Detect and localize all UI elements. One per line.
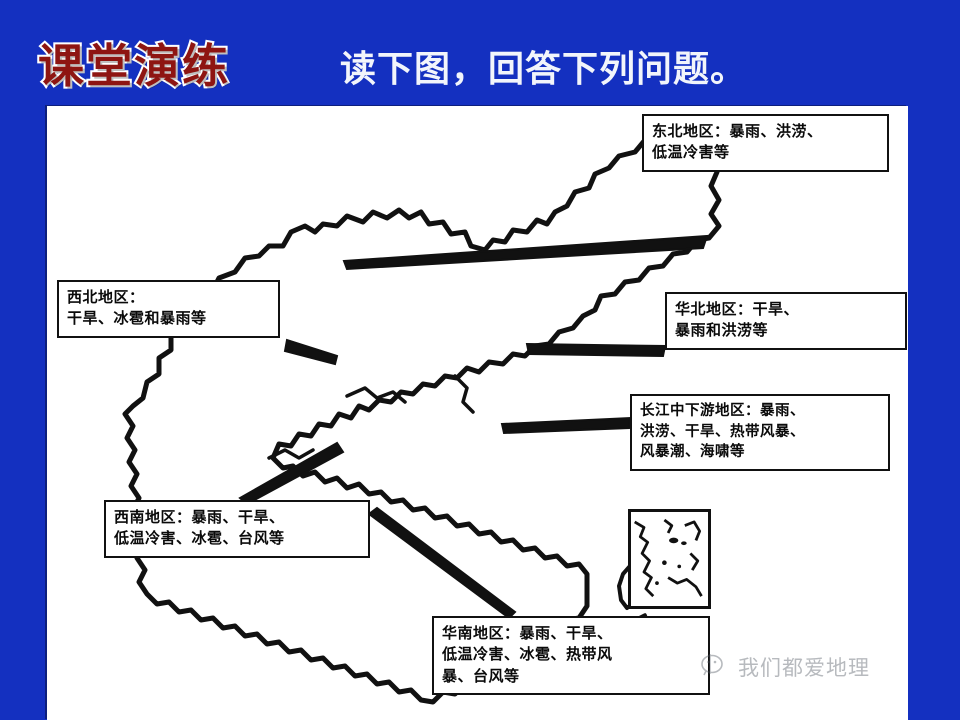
south-china-sea-inset-map xyxy=(631,512,708,606)
leader-northchina xyxy=(527,344,665,356)
callout-northwest[interactable]: 西北地区： 干旱、冰雹和暴雨等 xyxy=(57,280,280,338)
slide-canvas: 课堂演练 读下图，回答下列问题。 xyxy=(0,0,960,720)
watermark-text: 我们都爱地理 xyxy=(738,652,870,682)
callout-northeast[interactable]: 东北地区：暴雨、洪涝、 低温冷害等 xyxy=(642,114,889,172)
instruction-text: 读下图，回答下列问题。 xyxy=(340,40,747,92)
leader-yangtze xyxy=(502,418,630,433)
callout-southwest[interactable]: 西南地区：暴雨、干旱、 低温冷害、冰雹、台风等 xyxy=(104,500,370,558)
south-china-sea-inset xyxy=(628,509,711,609)
callout-northchina[interactable]: 华北地区：干旱、 暴雨和洪涝等 xyxy=(665,292,907,350)
page-title: 课堂演练 xyxy=(38,30,230,96)
callout-southchina[interactable]: 华南地区：暴雨、干旱、 低温冷害、冰雹、热带风 暴、台风等 xyxy=(432,616,710,695)
leader-southchina xyxy=(369,508,515,618)
wechat-icon xyxy=(700,652,730,682)
watermark: 我们都爱地理 xyxy=(700,652,870,682)
internal-boundaries xyxy=(269,376,473,458)
callout-yangtze[interactable]: 长江中下游地区：暴雨、 洪涝、干旱、热带风暴、 风暴潮、海啸等 xyxy=(630,394,890,471)
leader-northwest xyxy=(285,340,337,364)
slide-header: 课堂演练 读下图，回答下列问题。 xyxy=(0,0,960,104)
leader-northeast xyxy=(344,236,707,269)
map-panel: 东北地区：暴雨、洪涝、 低温冷害等 西北地区： 干旱、冰雹和暴雨等 华北地区：干… xyxy=(47,106,908,720)
